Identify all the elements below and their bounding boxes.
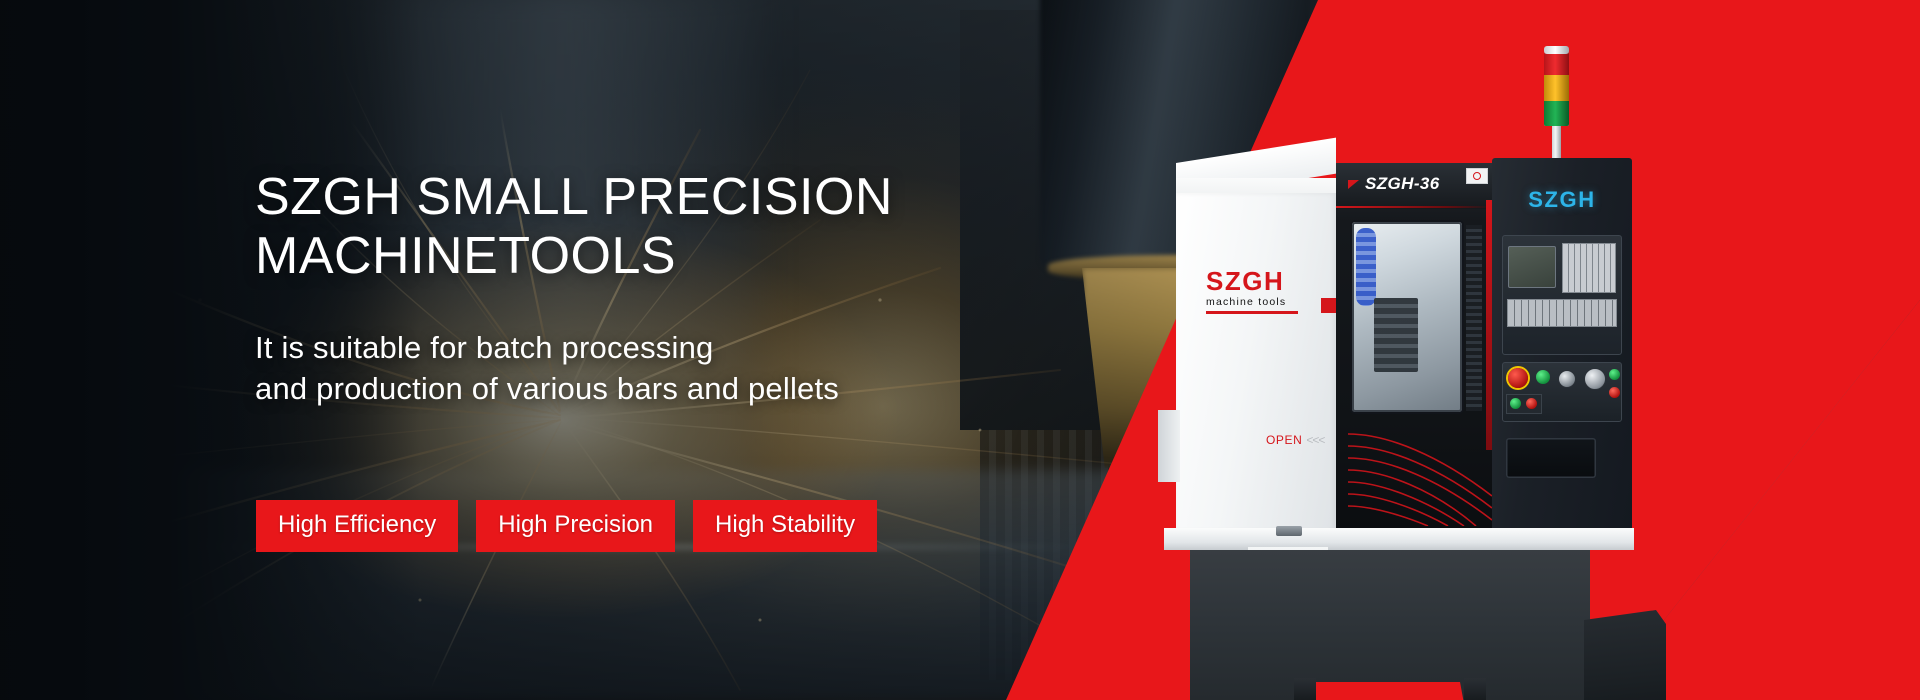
subtitle-line-1: It is suitable for batch processing [255,330,713,365]
hero-copy-block: SZGH SMALL PRECISION MACHINETOOLS It is … [255,168,1075,410]
feature-tag-high-efficiency[interactable]: High Efficiency [256,500,458,552]
enclosure-left-door [1176,193,1336,531]
cycle-start-icon [1609,369,1620,380]
pillar-access-door [1506,438,1596,478]
cycle-stop-icon [1609,387,1620,398]
door-open-text: OPEN [1266,433,1302,447]
cnc-lathe-product-image: SZGH machine tools OPEN <<< SZGH-36 [1148,50,1868,700]
leveling-foot-right [1464,678,1486,700]
chamber-vent-strip [1466,225,1482,411]
product-model-label: SZGH-36 [1365,174,1440,194]
product-brand-square-icon [1321,298,1336,313]
door-open-label: OPEN <<< [1266,433,1324,447]
plinth-red-notch [1308,682,1468,700]
chevron-left-icon: <<< [1306,433,1324,447]
title-line-1: SZGH SMALL PRECISION [255,168,893,226]
leveling-foot-left [1294,678,1316,700]
feature-tag-high-precision[interactable]: High Precision [476,500,675,552]
chip-conveyor-bin [1584,610,1666,700]
signal-light-green [1544,101,1569,126]
turret-tool-holder [1374,298,1418,372]
feature-tag-list: High Efficiency High Precision High Stab… [256,500,877,552]
start-button-icon [1536,370,1550,384]
hero-subtitle: It is suitable for batch processing and … [255,327,1075,411]
product-brand-rule [1206,311,1298,314]
model-triangle-icon [1348,180,1359,189]
emergency-stop-icon [1508,368,1528,388]
signal-tower-lights-icon [1544,50,1569,126]
machine-base-deck [1164,528,1634,550]
warning-sticker-icon [1466,168,1488,184]
product-brand-tagline: machine tools [1206,297,1316,308]
hero-banner: SZGH machine tools OPEN <<< SZGH-36 [0,0,1920,700]
feature-tag-high-stability[interactable]: High Stability [693,500,877,552]
controller-keypad [1562,243,1616,293]
controller-display-screen [1508,246,1556,288]
controller-softkey-row [1507,299,1617,327]
spindle-override-knob-icon [1584,368,1606,390]
coolant-coil-icon [1356,228,1376,306]
page-title: SZGH SMALL PRECISION MACHINETOOLS [255,168,1075,287]
subtitle-line-2: and production of various bars and pelle… [255,371,839,406]
red-swoosh-graphic [1348,422,1492,526]
title-line-2: MACHINETOOLS [255,227,676,285]
controller-brand-label: SZGH [1514,187,1610,213]
model-accent-line [1336,206,1492,208]
product-brand-name: SZGH [1206,268,1316,294]
base-latch-icon [1276,526,1302,536]
machine-plinth [1190,550,1590,700]
signal-light-amber [1544,75,1569,100]
aux-green-button-icon [1510,398,1521,409]
enclosure-left-side-panel [1158,410,1180,482]
feed-override-knob-icon [1558,370,1576,388]
product-brand-logo: SZGH machine tools [1206,268,1316,314]
aux-red-button-icon [1526,398,1537,409]
product-model-badge: SZGH-36 [1348,174,1440,194]
signal-tower-cap [1544,46,1569,54]
